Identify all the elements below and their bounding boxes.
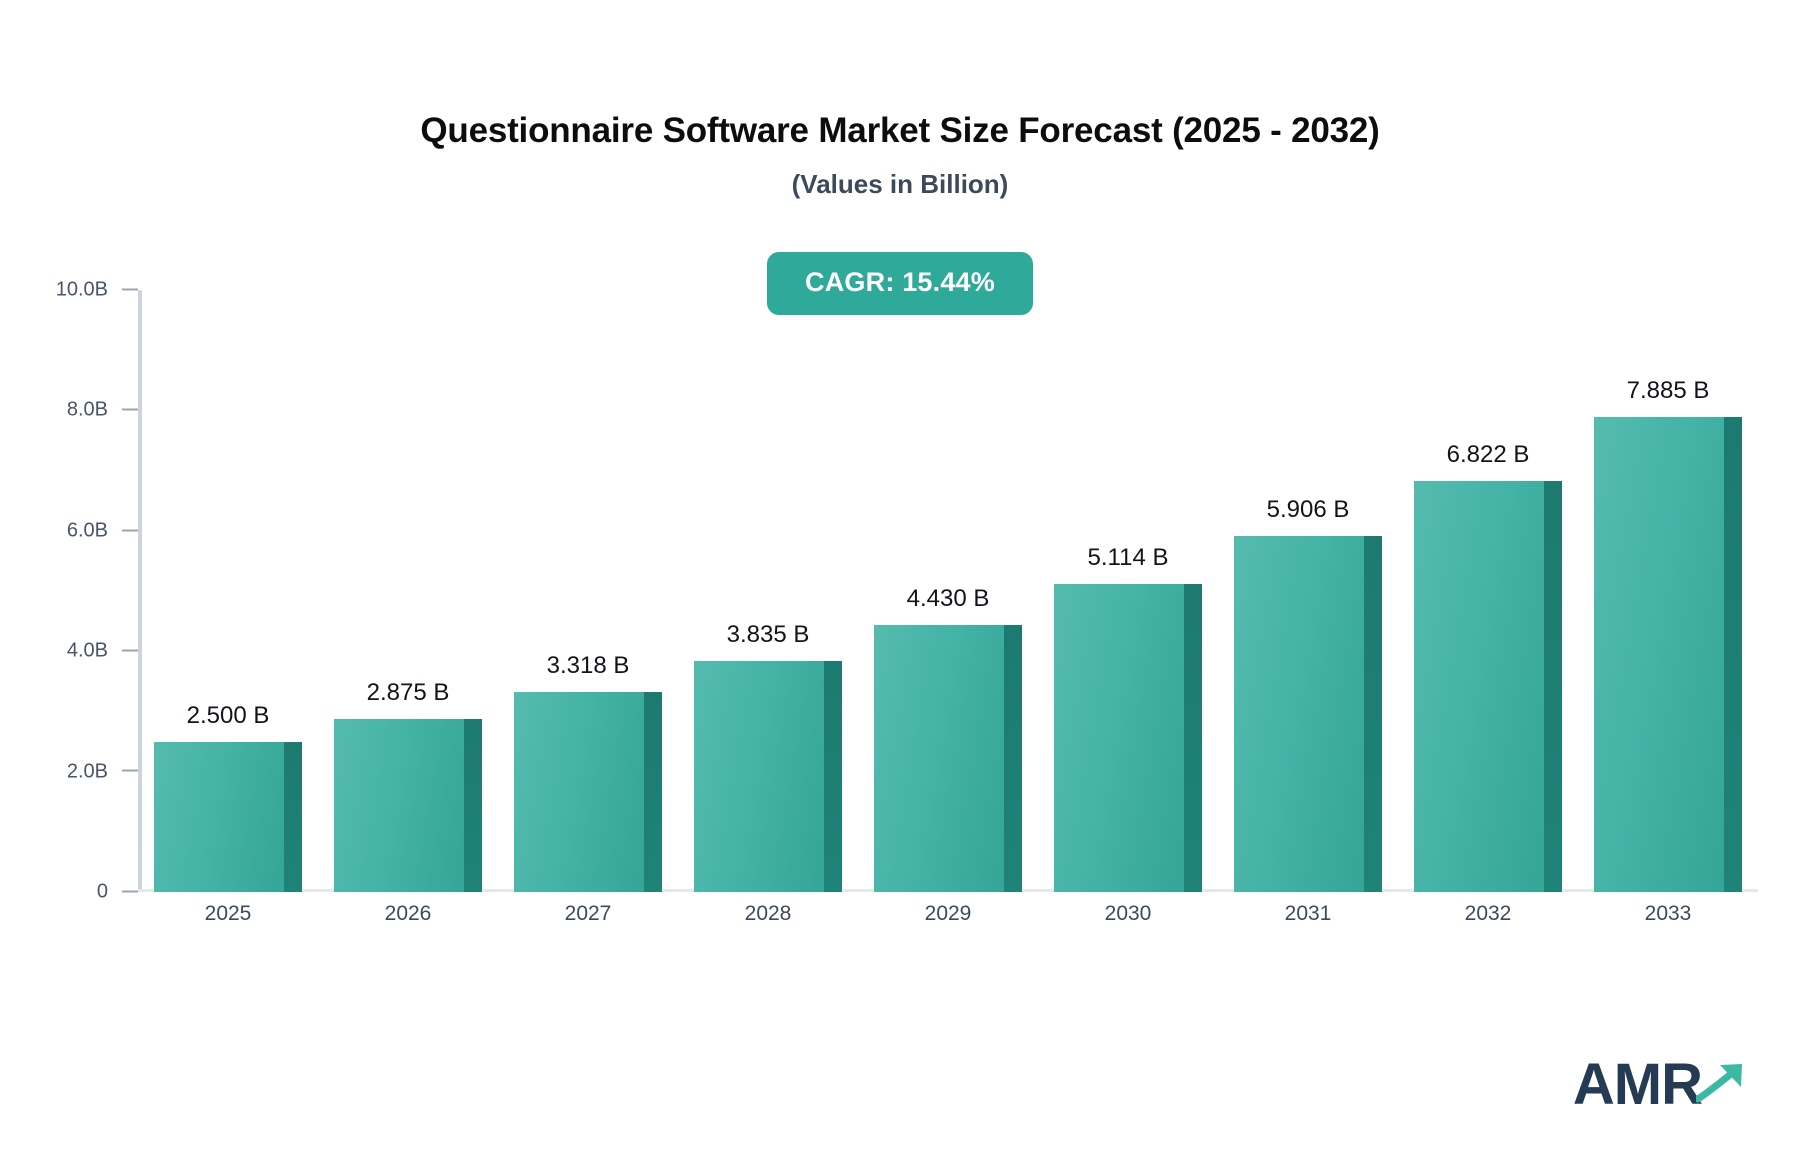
bar-side-face xyxy=(1364,536,1382,892)
x-axis-tick-label: 2028 xyxy=(745,902,792,926)
bar-group: 5.114 B2030 xyxy=(1038,290,1218,892)
bar-front-face xyxy=(1054,584,1184,892)
y-axis-tick-label: 0 xyxy=(97,881,108,904)
bar-series: 2.500 B20252.875 B20263.318 B20273.835 B… xyxy=(138,290,1758,892)
bar[interactable]: 3.318 B xyxy=(514,692,662,892)
bar[interactable]: 6.822 B xyxy=(1414,481,1562,892)
bar-side-face xyxy=(464,719,482,892)
bar-value-label: 4.430 B xyxy=(907,585,990,613)
y-axis-tick-label: 6.0B xyxy=(67,519,108,542)
page-title: Questionnaire Software Market Size Forec… xyxy=(0,112,1800,151)
y-axis-tick-mark xyxy=(122,649,138,651)
bar-value-label: 2.875 B xyxy=(367,679,450,707)
bar-value-label: 3.835 B xyxy=(727,621,810,649)
bar-front-face xyxy=(1234,536,1364,892)
bar-side-face xyxy=(1544,481,1562,892)
bar-group: 6.822 B2032 xyxy=(1398,290,1578,892)
x-axis-tick-label: 2025 xyxy=(205,902,252,926)
bar[interactable]: 4.430 B xyxy=(874,625,1022,892)
y-axis-tick: 4.0B xyxy=(0,640,138,663)
bar[interactable]: 2.875 B xyxy=(334,719,482,892)
bar-group: 2.875 B2026 xyxy=(318,290,498,892)
bar-group: 7.885 B2033 xyxy=(1578,290,1758,892)
bar-front-face xyxy=(874,625,1004,892)
bar[interactable]: 5.114 B xyxy=(1054,584,1202,892)
logo-text: AMR xyxy=(1573,1056,1702,1114)
bar[interactable]: 7.885 B xyxy=(1594,417,1742,892)
x-axis-tick-label: 2030 xyxy=(1105,902,1152,926)
bar-group: 3.835 B2028 xyxy=(678,290,858,892)
bar-side-face xyxy=(1724,417,1742,892)
bar-side-face xyxy=(1004,625,1022,892)
y-axis-tick: 0 xyxy=(0,881,138,904)
amr-logo: AMR xyxy=(1573,1056,1752,1114)
x-axis-tick-label: 2032 xyxy=(1465,902,1512,926)
y-axis-tick-label: 2.0B xyxy=(67,760,108,783)
y-axis-tick-mark xyxy=(122,288,138,290)
bar-front-face xyxy=(154,742,284,893)
y-axis-tick-label: 8.0B xyxy=(67,399,108,422)
bar-group: 4.430 B2029 xyxy=(858,290,1038,892)
y-axis-tick: 8.0B xyxy=(0,399,138,422)
bar-side-face xyxy=(284,742,302,893)
bar[interactable]: 3.835 B xyxy=(694,661,842,892)
bar-value-label: 6.822 B xyxy=(1447,441,1530,469)
y-axis-tick: 2.0B xyxy=(0,760,138,783)
y-axis-tick-mark xyxy=(122,529,138,531)
bar-group: 5.906 B2031 xyxy=(1218,290,1398,892)
bar-front-face xyxy=(514,692,644,892)
chart-subtitle: (Values in Billion) xyxy=(0,170,1800,199)
bar-value-label: 5.906 B xyxy=(1267,496,1350,524)
bar-front-face xyxy=(334,719,464,892)
bar-value-label: 7.885 B xyxy=(1627,377,1710,405)
bar-side-face xyxy=(824,661,842,892)
y-axis-tick-mark xyxy=(122,890,138,892)
bar-group: 2.500 B2025 xyxy=(138,290,318,892)
bar[interactable]: 2.500 B xyxy=(154,742,302,893)
bar-value-label: 5.114 B xyxy=(1088,544,1169,572)
y-axis-tick-mark xyxy=(122,409,138,411)
bar-side-face xyxy=(1184,584,1202,892)
x-axis-tick-label: 2033 xyxy=(1645,902,1692,926)
bar-value-label: 2.500 B xyxy=(187,702,270,730)
y-axis-tick-mark xyxy=(122,770,138,772)
bar-front-face xyxy=(694,661,824,892)
y-axis-tick: 6.0B xyxy=(0,519,138,542)
bar-front-face xyxy=(1594,417,1724,892)
bar[interactable]: 5.906 B xyxy=(1234,536,1382,892)
x-axis-tick-label: 2031 xyxy=(1285,902,1332,926)
bar-value-label: 3.318 B xyxy=(547,652,630,680)
x-axis-tick-label: 2027 xyxy=(565,902,612,926)
y-axis-tick-label: 10.0B xyxy=(56,279,108,302)
chart-page: Questionnaire Software Market Size Forec… xyxy=(0,0,1800,1156)
arrow-up-right-icon xyxy=(1696,1061,1752,1108)
bar-front-face xyxy=(1414,481,1544,892)
plot-area: 10.0B8.0B6.0B4.0B2.0B0 2.500 B20252.875 … xyxy=(138,290,1758,892)
bar-side-face xyxy=(644,692,662,892)
y-axis-tick: 10.0B xyxy=(0,279,138,302)
x-axis-tick-label: 2026 xyxy=(385,902,432,926)
x-axis-tick-label: 2029 xyxy=(925,902,972,926)
y-axis-tick-label: 4.0B xyxy=(67,640,108,663)
bar-group: 3.318 B2027 xyxy=(498,290,678,892)
